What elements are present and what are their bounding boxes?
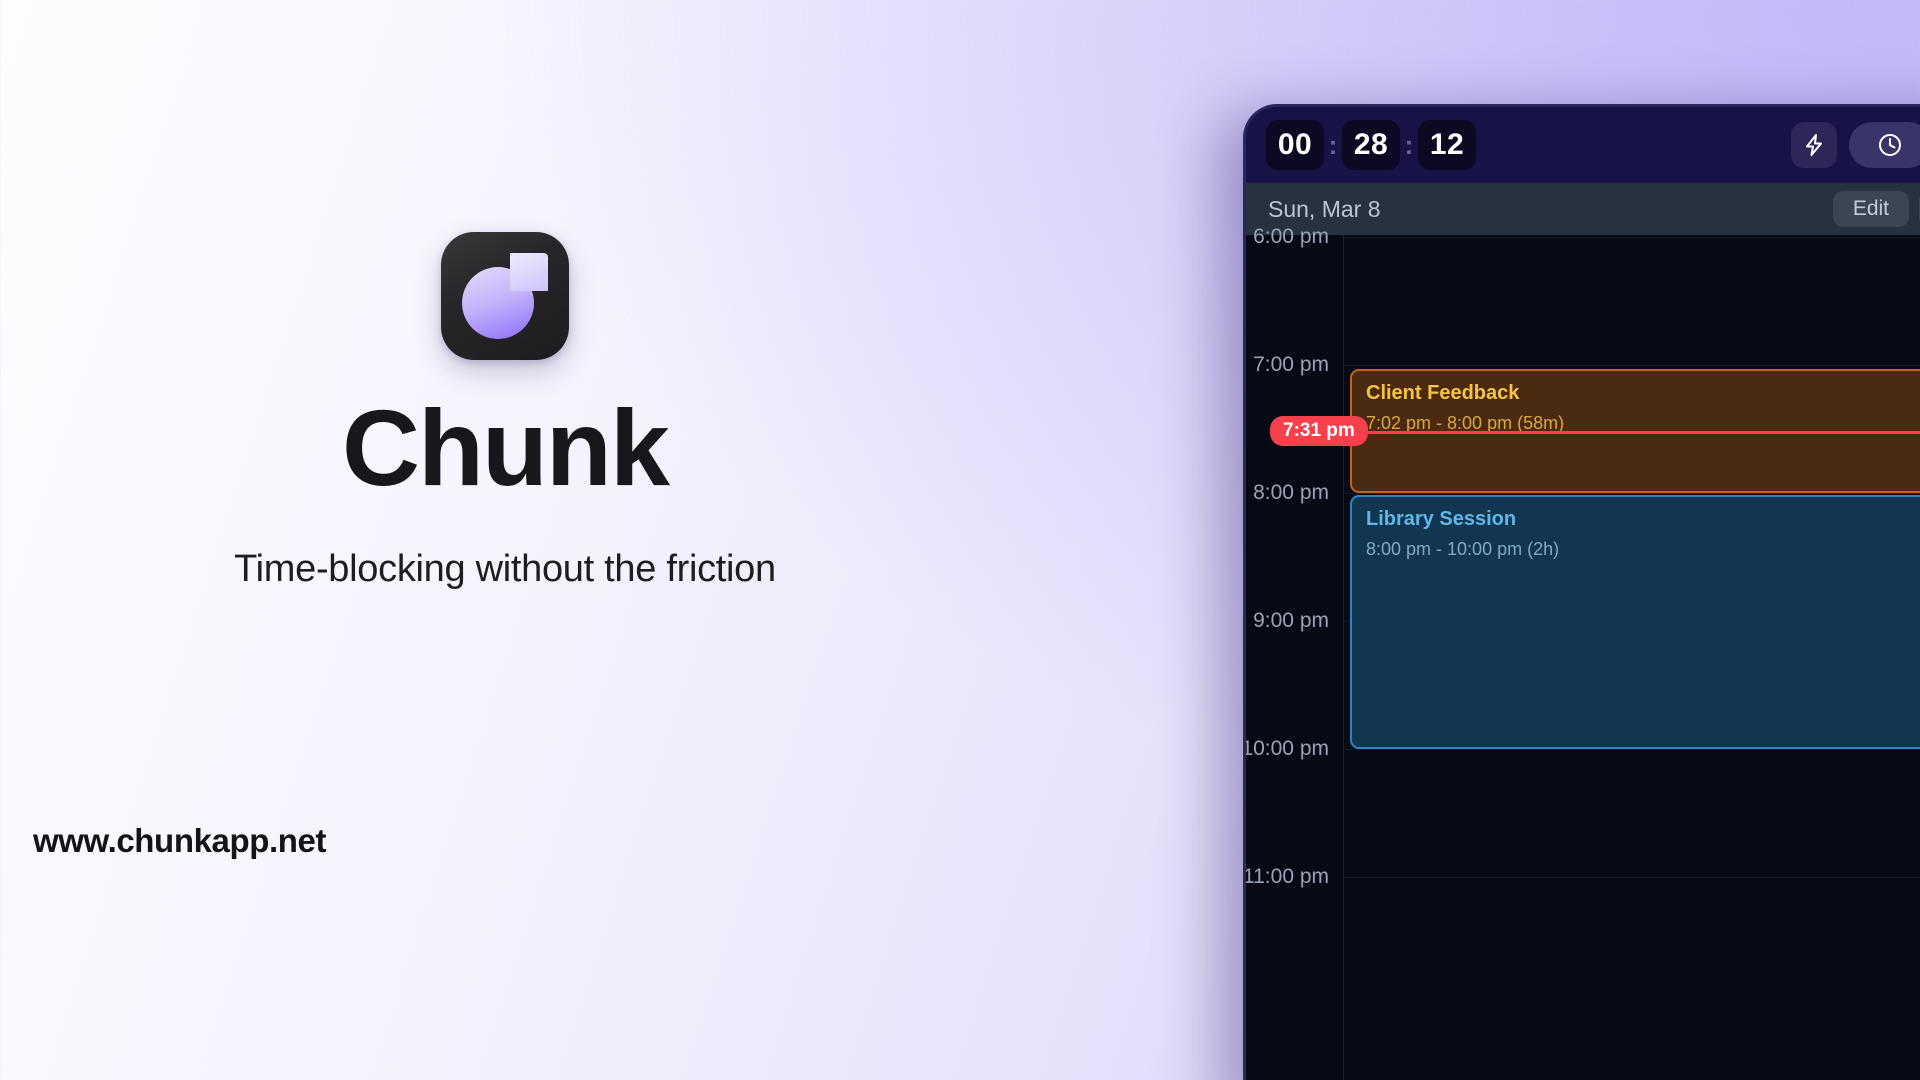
hour-label: 10:00 pm: [1243, 737, 1329, 761]
tagline: Time-blocking without the friction: [234, 548, 776, 591]
promo-panel: Chunk Time-blocking without the friction: [0, 0, 1010, 1080]
hour-label: 8:00 pm: [1253, 481, 1329, 505]
time-gutter: 6:00 pm 7:00 pm 8:00 pm 9:00 pm 10:00 pm…: [1246, 235, 1344, 1080]
pie-wedge: [510, 253, 548, 291]
app-header: 00 : 28 : 12: [1246, 107, 1920, 183]
event-title: Library Session: [1366, 508, 1920, 531]
calendar-event[interactable]: Library Session 8:00 pm - 10:00 pm (2h): [1350, 495, 1920, 749]
hour-gridline: [1344, 493, 1920, 494]
event-track[interactable]: Client Feedback 7:02 pm - 8:00 pm (58m) …: [1344, 235, 1920, 1080]
current-time-line: [1344, 431, 1920, 434]
hour-label: 9:00 pm: [1253, 609, 1329, 633]
app-logo: [441, 232, 569, 360]
current-date-label: Sun, Mar 8: [1268, 196, 1381, 223]
timer-hours[interactable]: 00: [1266, 120, 1324, 170]
timer-mode-button[interactable]: [1849, 122, 1920, 168]
edit-button[interactable]: Edit: [1833, 191, 1909, 227]
header-actions: [1791, 122, 1920, 168]
timer-minutes[interactable]: 28: [1342, 120, 1400, 170]
timer-display[interactable]: 00 : 28 : 12: [1266, 120, 1476, 170]
clock-icon: [1877, 132, 1903, 158]
event-time: 8:00 pm - 10:00 pm (2h): [1366, 539, 1920, 560]
lightning-bolt-icon: [1803, 133, 1825, 157]
hour-gridline: [1344, 877, 1920, 878]
hour-gridline: [1344, 237, 1920, 238]
website-url: www.chunkapp.net: [33, 822, 326, 860]
timer-seconds[interactable]: 12: [1418, 120, 1476, 170]
app-mockup: 00 : 28 : 12: [1243, 104, 1920, 1080]
date-bar: Sun, Mar 8 Edit: [1246, 183, 1920, 235]
hour-label: 11:00 pm: [1243, 865, 1329, 889]
date-bar-actions: Edit: [1833, 191, 1920, 227]
hour-gridline: [1344, 365, 1920, 366]
hour-label: 6:00 pm: [1253, 225, 1329, 249]
event-title: Client Feedback: [1366, 382, 1920, 405]
pie-chart-icon: [462, 253, 548, 339]
timer-separator-1: :: [1324, 130, 1342, 161]
current-time-badge: 7:31 pm: [1270, 416, 1368, 446]
quick-action-button[interactable]: [1791, 122, 1837, 168]
hour-gridline: [1344, 749, 1920, 750]
timer-separator-2: :: [1400, 130, 1418, 161]
page-title: Chunk: [342, 394, 668, 502]
calendar-grid[interactable]: 6:00 pm 7:00 pm 8:00 pm 9:00 pm 10:00 pm…: [1246, 235, 1920, 1080]
hour-label: 7:00 pm: [1253, 353, 1329, 377]
